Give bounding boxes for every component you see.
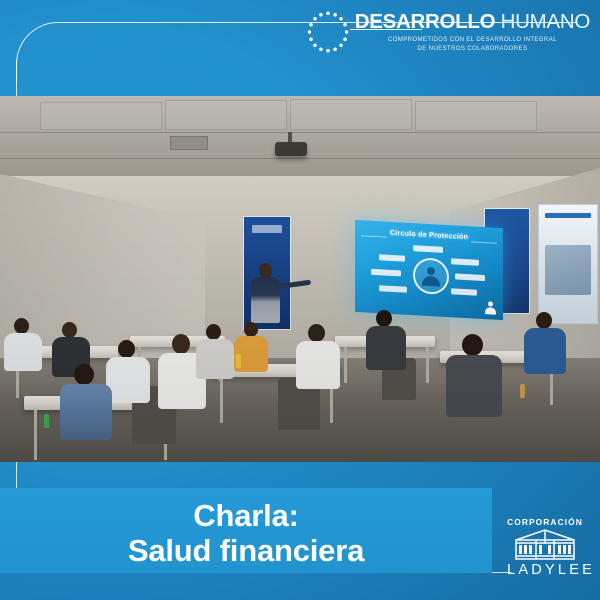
- corporacion-ladylee-logo: CORPORACIÓN: [504, 518, 586, 578]
- bottle: [236, 354, 241, 368]
- person-in-circle-icon: [413, 257, 449, 295]
- brand-tagline-line2: DE NUESTROS COLABORADORES: [355, 45, 590, 54]
- slide-title: Círculo de Protección: [355, 226, 503, 243]
- bottle: [44, 414, 49, 428]
- brand-title-bold: DESARROLLO: [355, 10, 496, 33]
- ceiling-projector-icon: [275, 142, 307, 156]
- white-rollup-banner: [538, 204, 598, 324]
- caption-line-2: Salud financiera: [0, 533, 492, 568]
- brand-tagline-line1: COMPROMETIDOS CON EL DESARROLLO INTEGRAL: [355, 36, 590, 45]
- bottle: [520, 384, 525, 398]
- presenter-head: [259, 263, 272, 278]
- slide-node: [379, 254, 405, 261]
- slide-node: [371, 269, 401, 277]
- header: DESARROLLO HUMANO COMPROMETIDOS CON EL D…: [0, 0, 600, 96]
- classical-building-icon: [512, 528, 578, 562]
- slide-node: [451, 288, 477, 295]
- projection-screen: Círculo de Protección: [355, 220, 503, 320]
- banner-photo-block: [545, 245, 591, 295]
- ladylee-top-text: CORPORACIÓN: [504, 518, 586, 526]
- brand-tagline: COMPROMETIDOS CON EL DESARROLLO INTEGRAL…: [355, 36, 590, 54]
- ladylee-bottom-text: LADYLEE: [504, 563, 586, 578]
- slide-person-head: [427, 267, 435, 275]
- caption-line-1: Charla:: [193, 498, 298, 533]
- slide-node: [455, 273, 485, 281]
- banner-logo-icon: [252, 225, 282, 233]
- ceiling-vent-icon: [170, 136, 208, 150]
- desarrollo-humano-logo: DESARROLLO HUMANO COMPROMETIDOS CON EL D…: [305, 9, 590, 55]
- banner-header-bar: [545, 213, 591, 218]
- training-session-photo: Círculo de Protección: [0, 96, 600, 462]
- presenter-body: [251, 277, 280, 323]
- dotted-circle-icon: [305, 9, 351, 55]
- slide-node: [451, 258, 479, 266]
- caption-text: Charla: Salud financiera: [0, 498, 492, 569]
- brand-text-block: DESARROLLO HUMANO COMPROMETIDOS CON EL D…: [355, 10, 590, 53]
- brand-title: DESARROLLO HUMANO: [355, 12, 590, 33]
- slide-node: [413, 245, 443, 253]
- slide-person-body: [422, 276, 440, 287]
- ceiling: [0, 96, 600, 180]
- photo-scene: Círculo de Protección: [0, 96, 600, 462]
- brand-title-light: HUMANO: [495, 10, 590, 33]
- slide-node: [379, 285, 407, 293]
- slide-avatar-icon: [485, 301, 496, 315]
- caption-panel: Charla: Salud financiera: [0, 488, 492, 573]
- poster-canvas: DESARROLLO HUMANO COMPROMETIDOS CON EL D…: [0, 0, 600, 600]
